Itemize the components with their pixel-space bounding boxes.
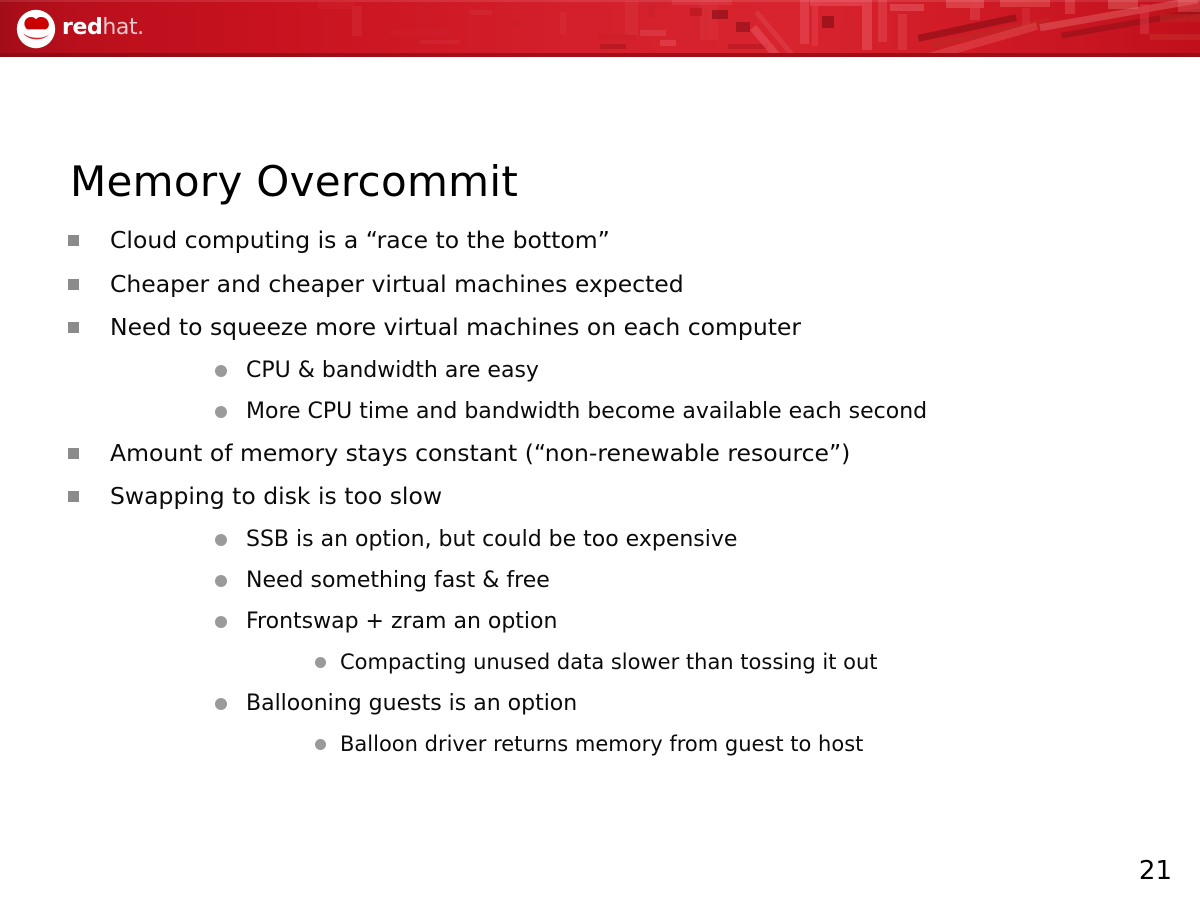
circle-bullet-icon [215, 698, 227, 710]
redhat-shadowman-icon [16, 9, 56, 49]
bullet-text: Swapping to disk is too slow [110, 475, 1200, 519]
bullet-item: CPU & bandwidth are easy [0, 350, 1200, 391]
bullet-text: Frontswap + zram an option [246, 601, 990, 642]
page-number: 21 [1139, 856, 1172, 886]
bullet-item: Swapping to disk is too slow [0, 475, 1200, 519]
redhat-logo: redhat. [16, 7, 146, 51]
bullet-text: Need something fast & free [246, 560, 990, 601]
logo-word-red: red [62, 15, 102, 40]
slide-title: Memory Overcommit [70, 156, 518, 208]
bullet-item: Balloon driver returns memory from guest… [0, 724, 1200, 765]
banner-geometric-pattern [0, 0, 1200, 57]
bullet-item: Cheaper and cheaper virtual machines exp… [0, 263, 1200, 307]
circle-bullet-icon [315, 657, 326, 668]
bullet-text: Cloud computing is a “race to the bottom… [110, 219, 1200, 263]
bullet-item: More CPU time and bandwidth become avail… [0, 391, 1200, 432]
bullet-item: Compacting unused data slower than tossi… [0, 642, 1200, 683]
slide-body: Cloud computing is a “race to the bottom… [0, 219, 1200, 765]
bullet-item: Amount of memory stays constant (“non-re… [0, 432, 1200, 476]
bullet-text: CPU & bandwidth are easy [246, 350, 990, 391]
square-bullet-icon [68, 448, 79, 459]
bullet-text: Balloon driver returns memory from guest… [340, 724, 1200, 765]
square-bullet-icon [68, 235, 79, 246]
bullet-item: Ballooning guests is an option [0, 683, 1200, 724]
circle-bullet-icon [215, 616, 227, 628]
square-bullet-icon [68, 279, 79, 290]
bullet-item: Need to squeeze more virtual machines on… [0, 306, 1200, 350]
redhat-wordmark: redhat. [62, 15, 144, 41]
square-bullet-icon [68, 322, 79, 333]
circle-bullet-icon [315, 739, 326, 750]
bullet-item: SSB is an option, but could be too expen… [0, 519, 1200, 560]
bullet-text: Amount of memory stays constant (“non-re… [110, 432, 1200, 476]
banner-bottom-rule [0, 53, 1200, 57]
square-bullet-icon [68, 491, 79, 502]
bullet-text: More CPU time and bandwidth become avail… [246, 391, 990, 432]
header-banner: redhat. [0, 0, 1200, 57]
bullet-text: Cheaper and cheaper virtual machines exp… [110, 263, 1200, 307]
bullet-item: Need something fast & free [0, 560, 1200, 601]
bullet-text: Need to squeeze more virtual machines on… [110, 306, 1200, 350]
circle-bullet-icon [215, 534, 227, 546]
bullet-text: Compacting unused data slower than tossi… [340, 642, 1200, 683]
bullet-text: SSB is an option, but could be too expen… [246, 519, 990, 560]
circle-bullet-icon [215, 575, 227, 587]
logo-word-hat: hat. [102, 15, 143, 40]
bullet-item: Frontswap + zram an option [0, 601, 1200, 642]
bullet-item: Cloud computing is a “race to the bottom… [0, 219, 1200, 263]
banner-top-highlight [0, 0, 1200, 2]
circle-bullet-icon [215, 406, 227, 418]
circle-bullet-icon [215, 365, 227, 377]
bullet-text: Ballooning guests is an option [246, 683, 990, 724]
